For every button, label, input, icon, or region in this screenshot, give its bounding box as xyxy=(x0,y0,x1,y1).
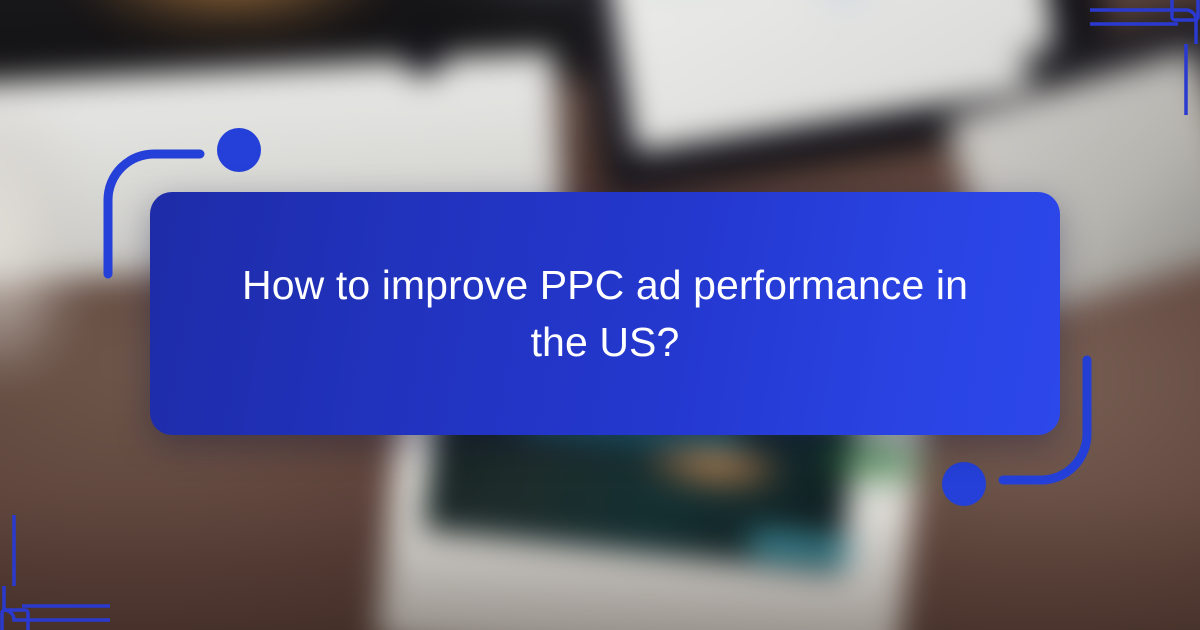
monitor-stand-dot xyxy=(402,32,446,76)
bottom-vignette xyxy=(0,500,1200,630)
headline-card: How to improve PPC ad performance in the… xyxy=(150,192,1060,435)
left-highlight xyxy=(0,110,70,370)
banner-root: How to improve PPC ad performance in the… xyxy=(0,0,1200,630)
monitor-screen-glow xyxy=(80,0,380,30)
page-title: How to improve PPC ad performance in the… xyxy=(225,257,985,370)
